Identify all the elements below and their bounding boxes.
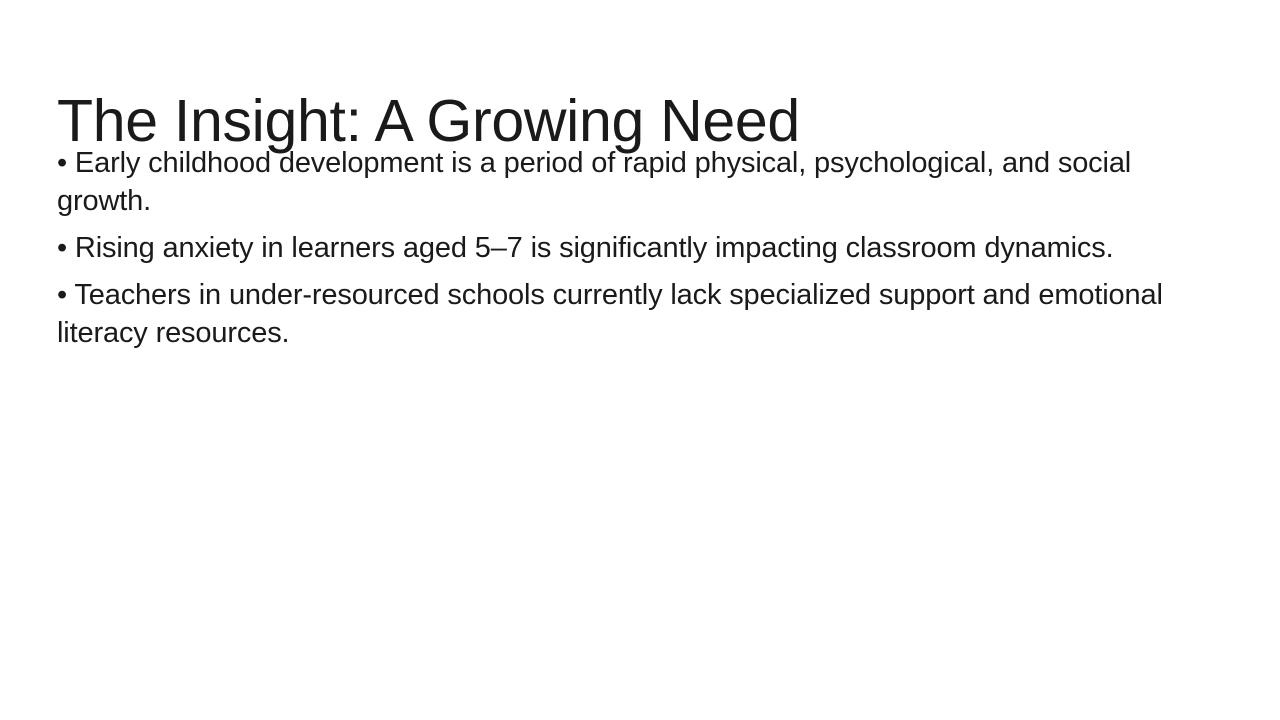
list-item: • Early childhood development is a perio… [57, 144, 1232, 220]
slide-canvas: The Insight: A Growing Need • Early chil… [0, 0, 1280, 720]
list-item: • Teachers in under-resourced schools cu… [57, 276, 1232, 352]
list-item: • Rising anxiety in learners aged 5–7 is… [57, 229, 1232, 267]
bullet-list: • Early childhood development is a perio… [57, 144, 1232, 352]
